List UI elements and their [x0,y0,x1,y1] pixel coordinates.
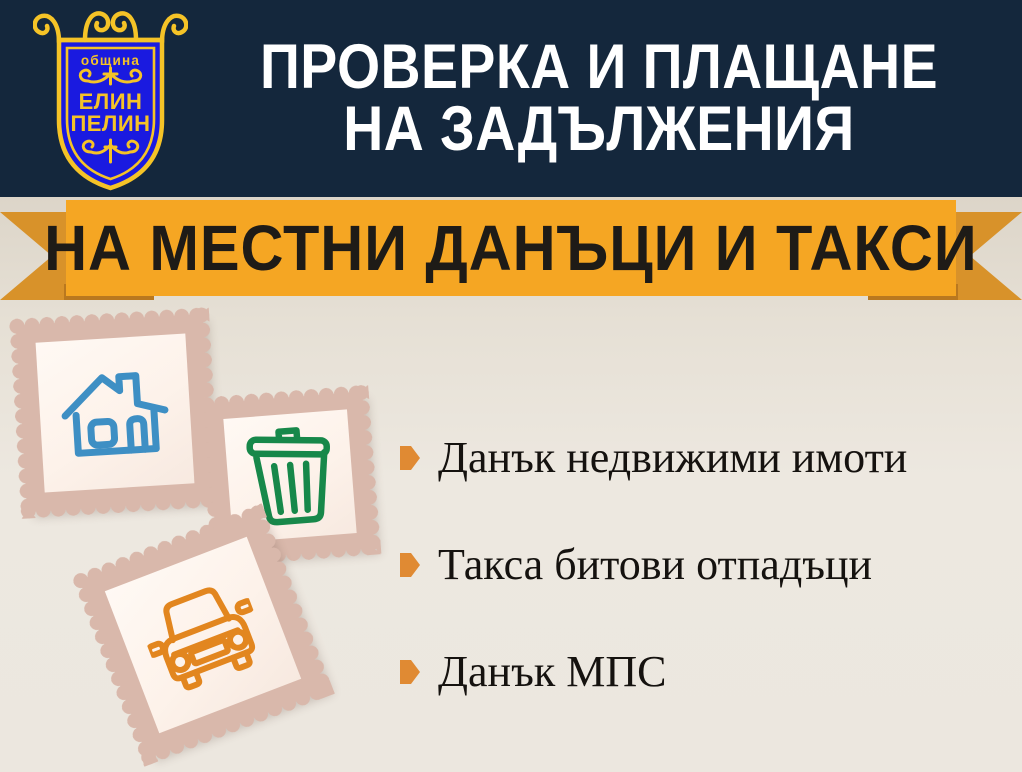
bullet-arrow-icon [400,660,420,684]
list-item-label: Данък недвижими имоти [438,436,907,480]
list-item[interactable]: Такса битови отпадъци [400,535,1010,595]
coat-of-arms-icon: община ЕЛИН ПЕЛИН [33,4,188,192]
coat-of-arms: община ЕЛИН ПЕЛИН [33,4,188,192]
list-item[interactable]: Данък недвижими имоти [400,428,1010,488]
bullet-arrow-icon [400,446,420,470]
car-icon [134,570,273,700]
svg-text:община: община [81,53,140,68]
stamp-inner-property [36,334,195,493]
list-item-label: Данък МПС [438,650,666,694]
header-bar: община ЕЛИН ПЕЛИН [0,0,1022,197]
page-title-line-2: НА ЗАДЪЛЖЕНИЯ [343,99,854,161]
house-icon [56,360,174,467]
ribbon-subtitle: НА МЕСТНИ ДАНЪЦИ И ТАКСИ [44,216,977,280]
page-title-line-1: ПРОВЕРКА И ПЛАЩАНЕ [260,37,938,99]
poster-root: община ЕЛИН ПЕЛИН [0,0,1022,772]
svg-text:ПЕЛИН: ПЕЛИН [70,111,150,136]
stamp-card-property [16,314,213,511]
list-item-label: Такса битови отпадъци [438,543,872,587]
page-title: ПРОВЕРКА И ПЛАЩАНЕ НА ЗАДЪЛЖЕНИЯ [237,16,960,181]
stamp-inner-vehicle [105,537,301,733]
tax-type-list: Данък недвижими имоти Такса битови отпад… [400,428,1010,702]
bullet-arrow-icon [400,553,420,577]
list-item[interactable]: Данък МПС [400,642,1010,702]
ribbon-banner: НА МЕСТНИ ДАНЪЦИ И ТАКСИ [0,200,1022,305]
ribbon-panel: НА МЕСТНИ ДАНЪЦИ И ТАКСИ [66,200,956,296]
